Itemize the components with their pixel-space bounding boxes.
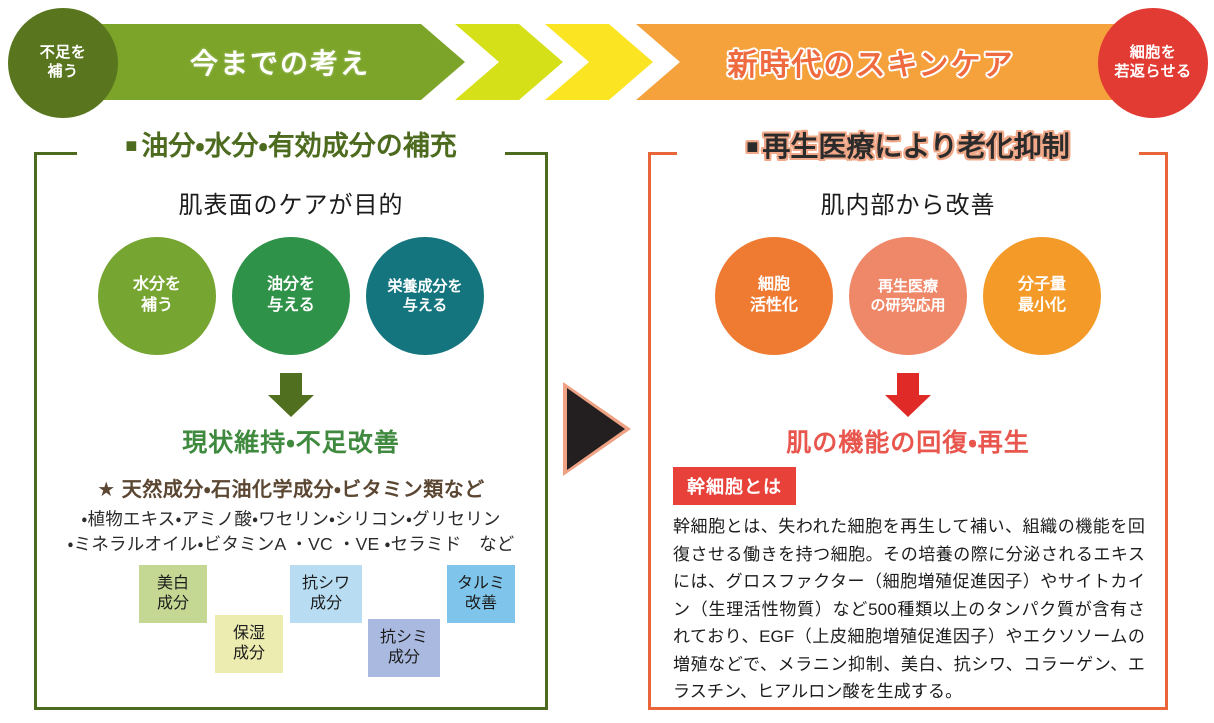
panel-conventional-care: ■油分・水分・有効成分の補充 肌表面のケアが目的 水分を 補う 油分を 与える … xyxy=(34,152,548,710)
circle-moisture-line1: 水分を xyxy=(133,275,181,296)
circle-molecular-size-line2: 最小化 xyxy=(1018,296,1066,317)
tag-anti-spot-line1: 抗シミ xyxy=(380,628,428,648)
circle-moisture: 水分を 補う xyxy=(98,237,216,355)
left-circle-row: 水分を 補う 油分を 与える 栄養成分を 与える xyxy=(37,237,545,355)
circle-cell-activation-line1: 細胞 xyxy=(758,275,790,296)
right-subhead: 肌内部から改善 xyxy=(651,185,1165,220)
panel-new-era-care: ■再生医療により老化抑制 肌内部から改善 細胞 活性化 再生医療 の研究応用 分… xyxy=(648,152,1168,710)
banner-label-new: 新時代のスキンケア xyxy=(636,24,1106,100)
square-marker-icon-right: ■ xyxy=(746,136,758,158)
badge-supplement-line2: 補う xyxy=(47,63,78,82)
circle-cell-activation-line2: 活性化 xyxy=(750,296,798,317)
tag-moisturizing-line1: 保湿 xyxy=(233,624,265,644)
tag-sagging-line2: 改善 xyxy=(465,594,497,614)
tag-moisturizing-line2: 成分 xyxy=(233,644,265,664)
tag-moisturizing: 保湿 成分 xyxy=(215,615,283,673)
tag-anti-spot-line2: 成分 xyxy=(388,648,420,668)
down-arrow-head-right xyxy=(885,395,931,417)
right-panel-title: ■再生医療により老化抑制 xyxy=(651,133,1165,161)
ingredient-list: ・植物エキス・アミノ酸・ワセリン・シリコン・グリセリン ・ミネラルオイル・ビタミ… xyxy=(37,507,545,558)
stem-cell-label: 幹細胞とは xyxy=(673,467,796,505)
right-result-text: 肌の機能の回復・再生 xyxy=(651,423,1165,459)
top-banner: 今までの考え 新時代のスキンケア 不足を 補う 細胞を 若返らせる xyxy=(0,8,1214,100)
badge-supplement: 不足を 補う xyxy=(8,8,118,118)
badge-rejuvenate: 細胞を 若返らせる xyxy=(1098,8,1208,118)
tag-anti-wrinkle: 抗シワ 成分 xyxy=(290,565,362,623)
tag-sagging-line1: タルミ xyxy=(457,574,505,594)
left-result-text: 現状維持・不足改善 xyxy=(37,423,545,459)
badge-rejuvenate-line1: 細胞を xyxy=(1130,44,1177,63)
circle-oil-line1: 油分を xyxy=(267,275,315,296)
tag-whitening-line2: 成分 xyxy=(157,594,189,614)
circle-nutrient-line2: 与える xyxy=(403,296,448,316)
stem-cell-description: 幹細胞とは、失われた細胞を再生して補い、組織の機能を回復させる働きを持つ細胞。そ… xyxy=(673,513,1145,706)
ingredient-heading: ★ 天然成分・石油化学成分・ビタミン類など xyxy=(37,473,545,502)
tag-sagging: タルミ 改善 xyxy=(447,565,515,623)
tag-whitening: 美白 成分 xyxy=(139,565,207,623)
down-arrow-icon-right xyxy=(885,373,931,417)
badge-rejuvenate-line2: 若返らせる xyxy=(1114,63,1191,82)
down-arrow-shaft-left xyxy=(280,373,302,397)
ingredient-line-2: ・ミネラルオイル・ビタミンA ・VC ・VE ・セラミド など xyxy=(37,532,545,557)
down-arrow-icon-left xyxy=(268,373,314,417)
circle-nutrient-line1: 栄養成分を xyxy=(387,277,462,297)
infographic-root: 今までの考え 新時代のスキンケア 不足を 補う 細胞を 若返らせる ■油分・水分… xyxy=(0,0,1214,723)
tag-anti-wrinkle-line1: 抗シワ xyxy=(302,574,350,594)
play-triangle-icon xyxy=(563,382,633,477)
benefit-tag-group: 美白 成分 保湿 成分 抗シワ 成分 抗シミ 成分 タルミ 改善 xyxy=(37,565,545,705)
circle-regenerative-research-line1: 再生医療 xyxy=(878,277,938,297)
left-subhead: 肌表面のケアが目的 xyxy=(37,185,545,220)
tag-anti-wrinkle-line2: 成分 xyxy=(310,594,342,614)
play-triangle-fill xyxy=(567,388,625,470)
circle-oil-line2: 与える xyxy=(267,296,315,317)
circle-moisture-line2: 補う xyxy=(141,296,173,317)
circle-nutrient: 栄養成分を 与える xyxy=(366,237,484,355)
tag-whitening-line1: 美白 xyxy=(157,574,189,594)
banner-label-old: 今までの考え xyxy=(95,24,465,100)
circle-cell-activation: 細胞 活性化 xyxy=(715,237,833,355)
ingredient-line-1: ・植物エキス・アミノ酸・ワセリン・シリコン・グリセリン xyxy=(37,507,545,532)
right-circle-row: 細胞 活性化 再生医療 の研究応用 分子量 最小化 xyxy=(651,237,1165,355)
circle-molecular-size: 分子量 最小化 xyxy=(983,237,1101,355)
tag-anti-spot: 抗シミ 成分 xyxy=(368,619,440,677)
square-marker-icon: ■ xyxy=(125,135,137,157)
badge-supplement-line1: 不足を xyxy=(40,44,87,63)
circle-regenerative-research-line2: の研究応用 xyxy=(870,296,945,316)
circle-oil: 油分を 与える xyxy=(232,237,350,355)
left-panel-title: ■油分・水分・有効成分の補充 xyxy=(37,133,545,160)
circle-molecular-size-line1: 分子量 xyxy=(1018,275,1066,296)
right-panel-title-text: 再生医療により老化抑制 xyxy=(762,131,1069,162)
left-panel-title-text: 油分・水分・有効成分の補充 xyxy=(141,131,456,161)
circle-regenerative-research: 再生医療 の研究応用 xyxy=(849,237,967,355)
chevron-segment-2 xyxy=(455,24,563,100)
down-arrow-shaft-right xyxy=(897,373,919,397)
down-arrow-head-left xyxy=(268,395,314,417)
